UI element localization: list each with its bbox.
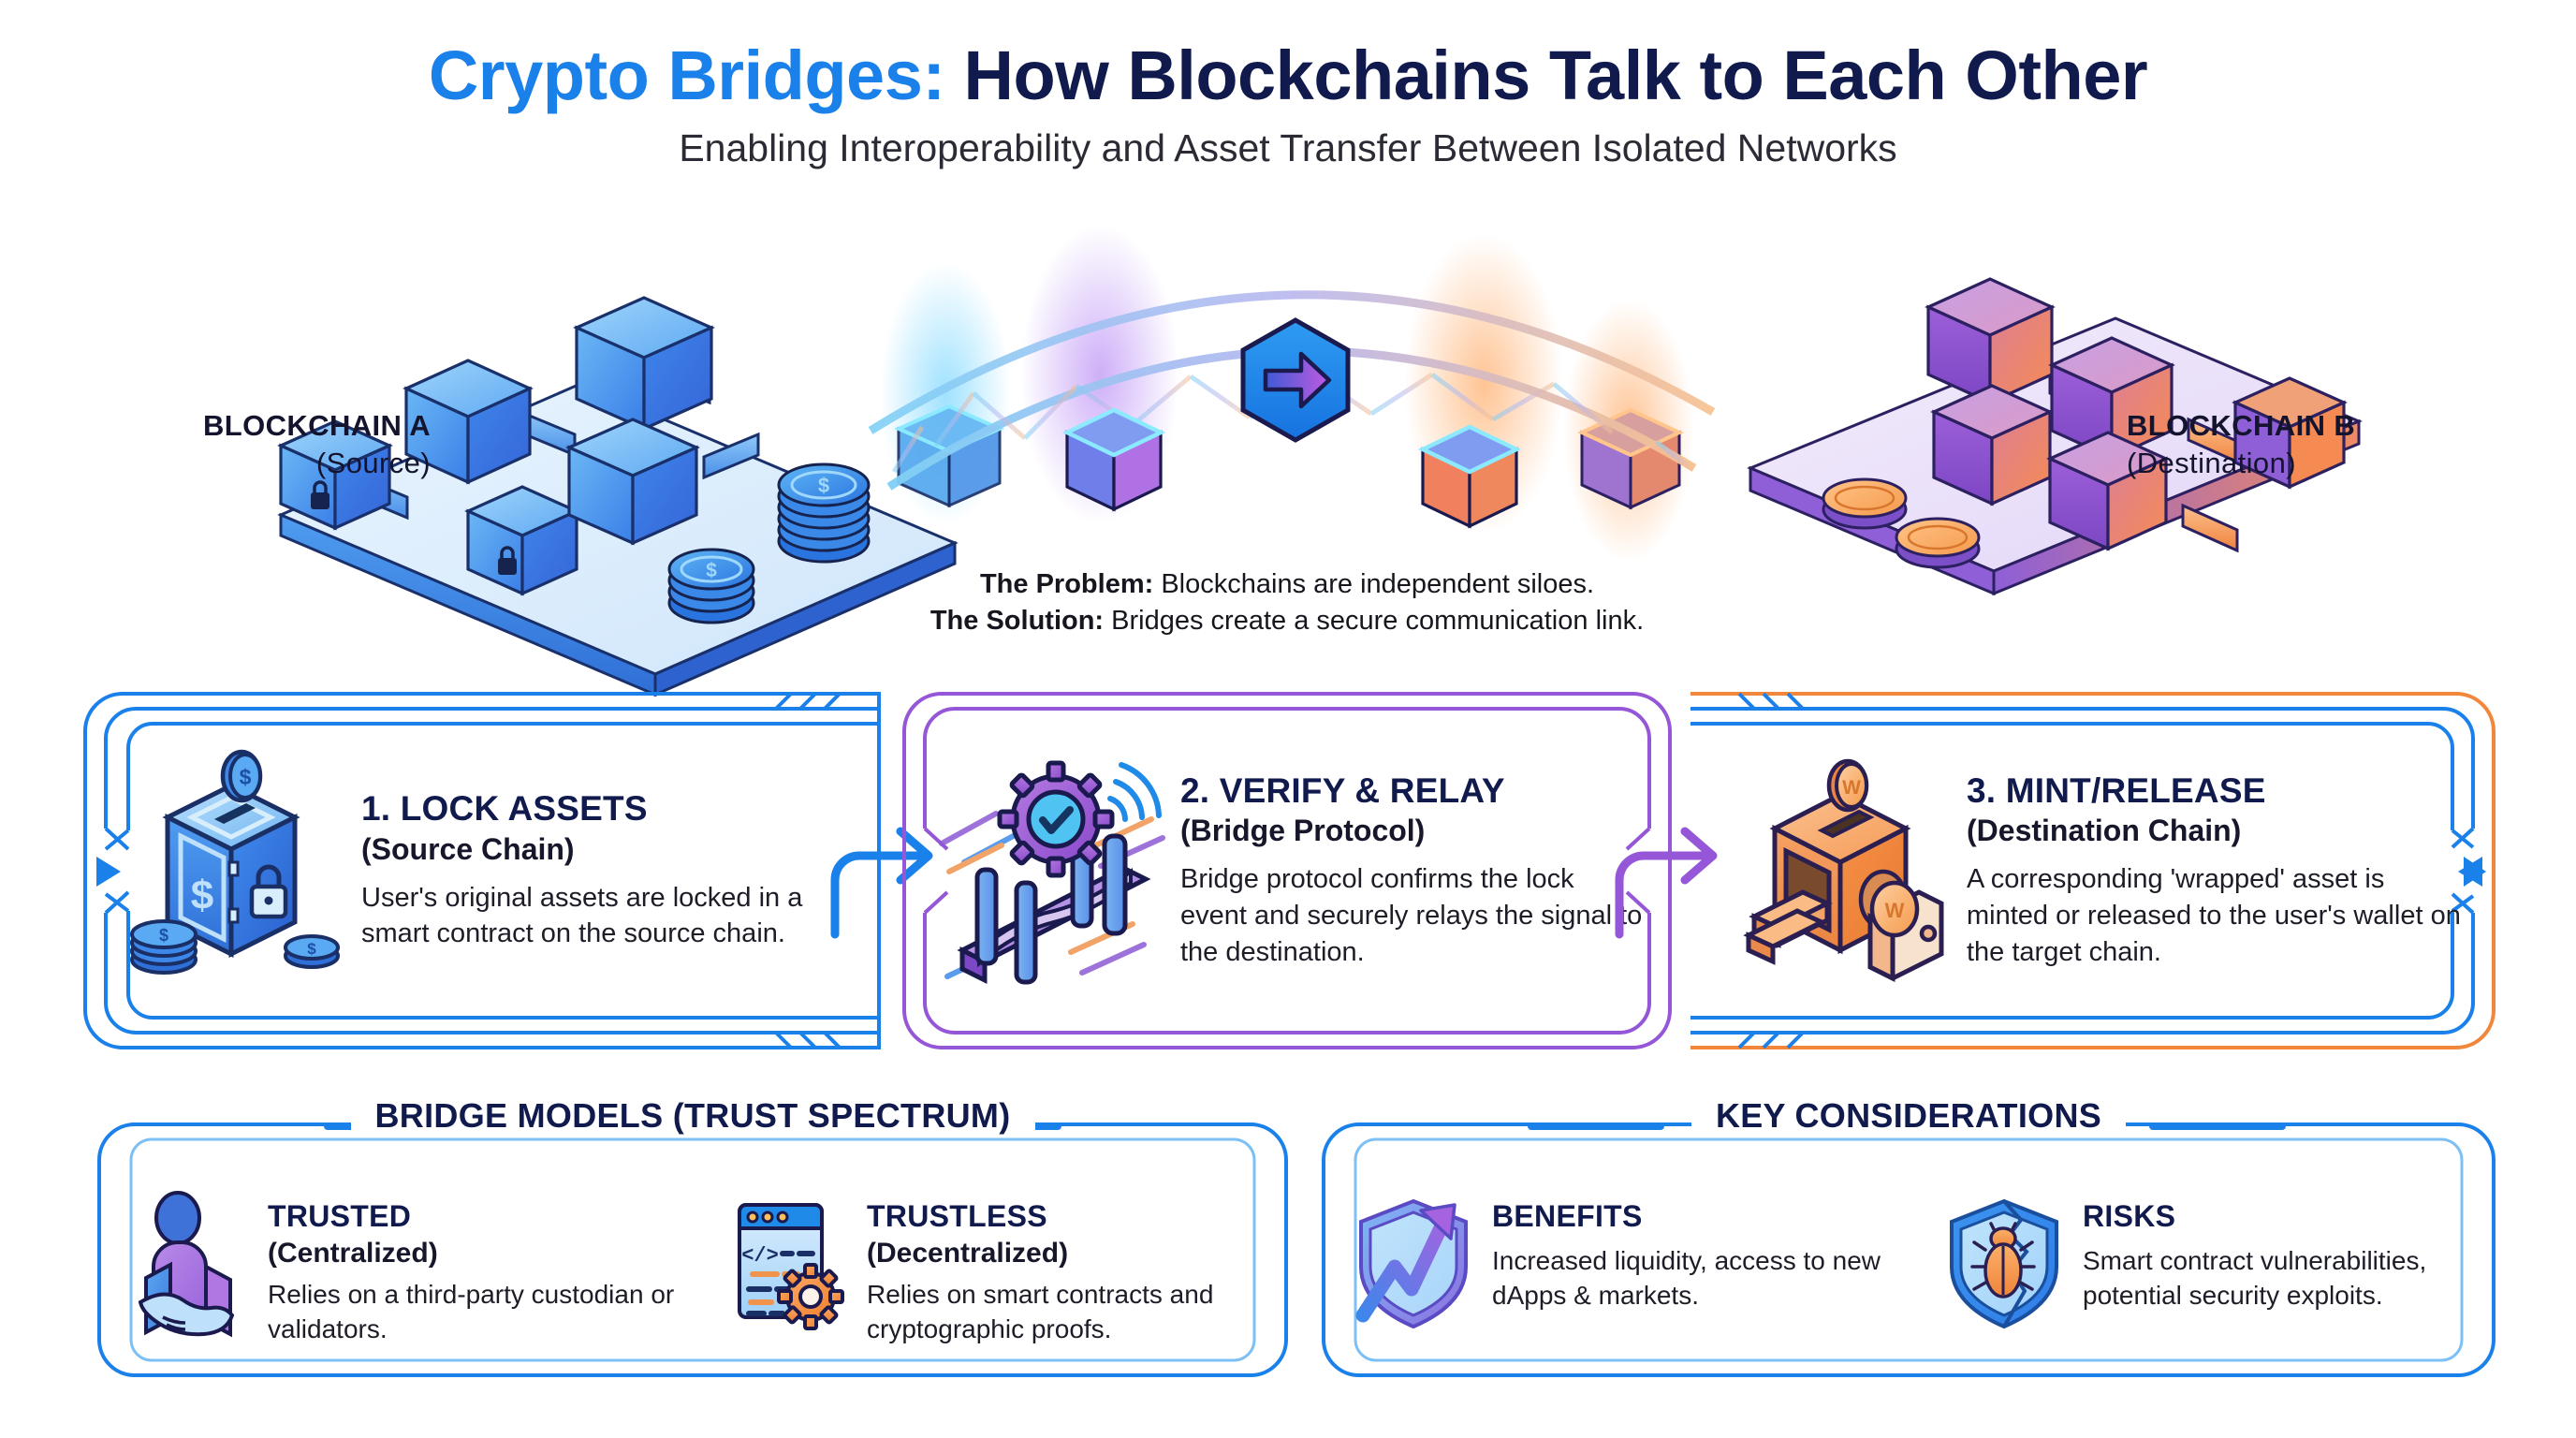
chain-label-destination: BLOCKCHAIN B (Destination) [2127, 407, 2445, 481]
chain-cube-a-top [577, 298, 711, 429]
handshake-icon [125, 1194, 253, 1334]
trusted-text: TRUSTED (Centralized) Relies on a third-… [268, 1186, 693, 1346]
svg-text:$: $ [240, 765, 252, 789]
step3-body: W W [1685, 688, 2499, 1053]
panel-left-items: TRUSTED (Centralized) Relies on a third-… [94, 1186, 1292, 1373]
step1-description: User's original assets are locked in a s… [361, 880, 853, 952]
chain-a-name: BLOCKCHAIN A [203, 409, 431, 442]
chain-b-role: (Destination) [2127, 445, 2445, 482]
svg-text:W: W [1885, 899, 1905, 922]
panel-bridge-models: BRIDGE MODELS (TRUST SPECTRUM) [94, 1119, 1292, 1381]
coin-b-1 [1823, 479, 1906, 528]
svg-text:$: $ [818, 474, 829, 497]
svg-text:$: $ [307, 940, 316, 958]
process-steps: $ $ [0, 688, 2576, 1063]
chain-cube-b-top [1928, 279, 2052, 403]
panel-item-benefits[interactable]: BENEFITS Increased liquidity, access to … [1318, 1186, 1909, 1373]
shield-bug-icon [1940, 1194, 2068, 1334]
benefits-description: Increased liquidity, access to new dApps… [1492, 1243, 1909, 1313]
solution-label: The Solution: [930, 606, 1104, 636]
step-card-mint-release[interactable]: W W [1685, 688, 2499, 1053]
step2-description: Bridge protocol confirms the lock event … [1180, 861, 1644, 970]
step2-subheading: (Bridge Protocol) [1180, 814, 1644, 848]
trusted-description: Relies on a third-party custodian or val… [268, 1277, 693, 1346]
infographic-canvas: Crypto Bridges: How Blockchains Talk to … [0, 0, 2576, 1438]
trustless-heading: TRUSTLESS [867, 1199, 1292, 1234]
mint-machine-wallet-icon: W W [1717, 752, 1955, 990]
step2-heading: 2. VERIFY & RELAY [1180, 771, 1644, 810]
trustless-description: Relies on smart contracts and cryptograp… [867, 1277, 1292, 1346]
benefits-text: BENEFITS Increased liquidity, access to … [1492, 1186, 1909, 1313]
step2-text: 2. VERIFY & RELAY (Bridge Protocol) Brid… [1180, 771, 1644, 970]
step3-text: 3. MINT/RELEASE (Destination Chain) A co… [1967, 771, 2467, 970]
trustless-subheading: (Decentralized) [867, 1238, 1292, 1269]
solution-line: The Solution: Bridges create a secure co… [842, 603, 1732, 639]
bridge-node-cube-right [1423, 427, 1516, 526]
wallet: W [1870, 883, 1941, 978]
panel-item-risks[interactable]: RISKS Smart contract vulnerabilities, po… [1909, 1186, 2499, 1373]
code-window-gear-icon: </> [724, 1194, 852, 1334]
lock-cube-icon-2 [468, 487, 577, 594]
coin-stack-a-short: $ [669, 550, 754, 623]
chain-cube-b-mid [1934, 386, 2050, 504]
ingot [1749, 892, 1827, 961]
step-card-lock-assets[interactable]: $ $ [80, 688, 885, 1053]
trustless-text: TRUSTLESS (Decentralized) Relies on smar… [867, 1186, 1292, 1346]
vault-lock-icon: $ $ [111, 752, 350, 990]
trusted-heading: TRUSTED [268, 1199, 693, 1234]
problem-text: Blockchains are independent siloes. [1153, 569, 1594, 599]
coin-stack-a-tall: $ [779, 464, 869, 562]
panel-right-title: KEY CONSIDERATIONS [1318, 1096, 2499, 1136]
panel-right-items: BENEFITS Increased liquidity, access to … [1318, 1186, 2499, 1373]
panel-item-trusted[interactable]: TRUSTED (Centralized) Relies on a third-… [94, 1186, 693, 1373]
step1-subheading: (Source Chain) [361, 832, 853, 867]
step1-text: 1. LOCK ASSETS (Source Chain) User's ori… [361, 789, 853, 952]
title-accent: Crypto Bridges: [429, 37, 945, 114]
page-title: Crypto Bridges: How Blockchains Talk to … [0, 37, 2576, 113]
trusted-subheading: (Centralized) [268, 1238, 693, 1269]
problem-solution-note: The Problem: Blockchains are independent… [842, 566, 1732, 639]
hexagon-arrow-right-icon [1243, 320, 1348, 440]
page-subtitle: Enabling Interoperability and Asset Tran… [0, 126, 2576, 170]
glow-cube-b [1582, 410, 1679, 507]
svg-text:$: $ [159, 926, 168, 945]
solution-text: Bridges create a secure communication li… [1104, 606, 1644, 636]
bridge-gear-check-icon [930, 752, 1169, 990]
step2-body: 2. VERIFY & RELAY (Bridge Protocol) Brid… [899, 688, 1676, 1053]
header: Crypto Bridges: How Blockchains Talk to … [0, 37, 2576, 170]
benefits-heading: BENEFITS [1492, 1199, 1909, 1234]
risks-description: Smart contract vulnerabilities, potentia… [2083, 1243, 2499, 1313]
svg-text:W: W [1842, 777, 1861, 799]
chain-label-source: BLOCKCHAIN A (Source) [131, 407, 431, 481]
bridge-node-cube-left [1067, 410, 1161, 509]
risks-heading: RISKS [2083, 1199, 2499, 1234]
chain-b-name: BLOCKCHAIN B [2127, 409, 2355, 442]
problem-line: The Problem: Blockchains are independent… [842, 566, 1732, 603]
svg-text:$: $ [706, 560, 717, 581]
chain-a-role: (Source) [131, 445, 431, 482]
hero-illustration: $ $ [0, 234, 2576, 655]
coin-b-2 [1896, 519, 1979, 567]
panel-item-trustless[interactable]: </> [693, 1186, 1292, 1373]
title-main: How Blockchains Talk to Each Other [945, 37, 2148, 114]
step3-heading: 3. MINT/RELEASE [1967, 771, 2467, 810]
panel-key-considerations: KEY CONSIDERATIONS [1318, 1119, 2499, 1381]
step1-body: $ $ [80, 688, 885, 1053]
panel-right-title-text: KEY CONSIDERATIONS [1691, 1096, 2126, 1135]
panel-left-title-text: BRIDGE MODELS (TRUST SPECTRUM) [351, 1096, 1035, 1135]
step1-heading: 1. LOCK ASSETS [361, 789, 853, 828]
step3-subheading: (Destination Chain) [1967, 814, 2467, 848]
step3-description: A corresponding 'wrapped' asset is minte… [1967, 861, 2467, 970]
step-card-verify-relay[interactable]: 2. VERIFY & RELAY (Bridge Protocol) Brid… [899, 688, 1676, 1053]
shield-growth-arrow-icon [1350, 1194, 1477, 1334]
risks-text: RISKS Smart contract vulnerabilities, po… [2083, 1186, 2499, 1313]
panel-left-title: BRIDGE MODELS (TRUST SPECTRUM) [94, 1096, 1292, 1136]
problem-label: The Problem: [980, 569, 1153, 599]
svg-text:$: $ [191, 873, 213, 918]
svg-text:</>: </> [741, 1244, 779, 1268]
chain-cube-a-right [569, 419, 696, 543]
glow-cube-a [899, 406, 1000, 506]
